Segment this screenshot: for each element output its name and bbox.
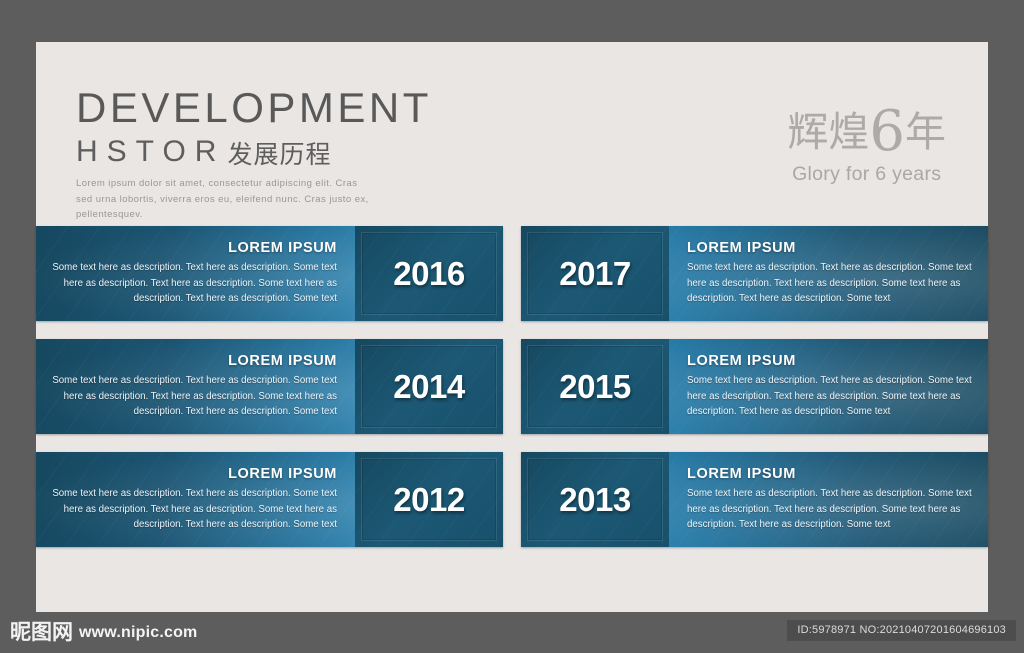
panel-text-block: LOREM IPSUM Some text here as descriptio… — [669, 226, 988, 321]
year-label: 2012 — [393, 481, 464, 519]
timeline-panel-2014[interactable]: LOREM IPSUM Some text here as descriptio… — [36, 339, 503, 434]
panel-text-block: LOREM IPSUM Some text here as descriptio… — [669, 339, 988, 434]
glory-block: 辉煌6年 Glory for 6 years — [787, 104, 946, 185]
year-box[interactable]: 2012 — [355, 452, 503, 547]
year-label: 2013 — [559, 481, 630, 519]
panel-title: LOREM IPSUM — [52, 353, 337, 369]
glory-number: 6 — [869, 99, 905, 164]
timeline-row: LOREM IPSUM Some text here as descriptio… — [36, 339, 988, 434]
headline-chinese-subtitle: 发展历程 — [227, 142, 331, 167]
glory-suffix: 年 — [905, 108, 946, 156]
panel-content: 2013 LOREM IPSUM Some text here as descr… — [521, 452, 988, 547]
year-box[interactable]: 2013 — [521, 452, 669, 547]
timeline-panel-2012[interactable]: LOREM IPSUM Some text here as descriptio… — [36, 452, 503, 547]
panel-description: Some text here as description. Text here… — [687, 373, 972, 420]
panel-content: LOREM IPSUM Some text here as descriptio… — [36, 452, 503, 547]
headline-block: DEVELOPMENT HSTOR 发展历程 Lorem ipsum dolor… — [76, 87, 432, 223]
headline-lorem-paragraph: Lorem ipsum dolor sit amet, consectetur … — [76, 176, 371, 223]
timeline-row: LOREM IPSUM Some text here as descriptio… — [36, 226, 988, 321]
year-box[interactable]: 2017 — [521, 226, 669, 321]
panel-text-block: LOREM IPSUM Some text here as descriptio… — [36, 452, 355, 547]
panel-title: LOREM IPSUM — [687, 466, 972, 482]
id-badge: ID:5978971 NO:20210407201604696103 — [787, 620, 1016, 641]
year-box[interactable]: 2015 — [521, 339, 669, 434]
glory-chinese-title: 辉煌6年 — [787, 104, 946, 160]
nipic-url[interactable]: www.nipic.com — [79, 624, 197, 642]
panel-content: 2015 LOREM IPSUM Some text here as descr… — [521, 339, 988, 434]
panel-description: Some text here as description. Text here… — [687, 260, 972, 307]
year-label: 2017 — [559, 255, 630, 293]
panel-text-block: LOREM IPSUM Some text here as descriptio… — [36, 226, 355, 321]
poster-card: DEVELOPMENT HSTOR 发展历程 Lorem ipsum dolor… — [36, 42, 988, 612]
panel-content: LOREM IPSUM Some text here as descriptio… — [36, 339, 503, 434]
poster-header: DEVELOPMENT HSTOR 发展历程 Lorem ipsum dolor… — [36, 42, 988, 212]
panel-title: LOREM IPSUM — [52, 466, 337, 482]
panel-description: Some text here as description. Text here… — [52, 260, 337, 307]
panel-description: Some text here as description. Text here… — [52, 486, 337, 533]
year-box[interactable]: 2016 — [355, 226, 503, 321]
year-label: 2016 — [393, 255, 464, 293]
year-box[interactable]: 2014 — [355, 339, 503, 434]
headline-main: DEVELOPMENT — [76, 87, 432, 129]
headline-sub: HSTOR — [76, 137, 225, 167]
panel-text-block: LOREM IPSUM Some text here as descriptio… — [669, 452, 988, 547]
timeline-grid: LOREM IPSUM Some text here as descriptio… — [36, 226, 988, 565]
year-label: 2014 — [393, 368, 464, 406]
panel-content: 2017 LOREM IPSUM Some text here as descr… — [521, 226, 988, 321]
panel-title: LOREM IPSUM — [687, 240, 972, 256]
panel-description: Some text here as description. Text here… — [687, 486, 972, 533]
timeline-row: LOREM IPSUM Some text here as descriptio… — [36, 452, 988, 547]
nipic-logo: 昵图网 — [10, 622, 73, 643]
timeline-panel-2016[interactable]: LOREM IPSUM Some text here as descriptio… — [36, 226, 503, 321]
headline-sub-row: HSTOR 发展历程 — [76, 137, 432, 167]
timeline-panel-2013[interactable]: 2013 LOREM IPSUM Some text here as descr… — [521, 452, 988, 547]
panel-title: LOREM IPSUM — [52, 240, 337, 256]
watermark-footer-bar: 昵图网 www.nipic.com ID:5978971 NO:20210407… — [0, 612, 1024, 653]
panel-title: LOREM IPSUM — [687, 353, 972, 369]
timeline-panel-2017[interactable]: 2017 LOREM IPSUM Some text here as descr… — [521, 226, 988, 321]
timeline-panel-2015[interactable]: 2015 LOREM IPSUM Some text here as descr… — [521, 339, 988, 434]
year-label: 2015 — [559, 368, 630, 406]
panel-description: Some text here as description. Text here… — [52, 373, 337, 420]
glory-prefix: 辉煌 — [787, 108, 869, 156]
panel-text-block: LOREM IPSUM Some text here as descriptio… — [36, 339, 355, 434]
glory-english-subtitle: Glory for 6 years — [787, 165, 946, 185]
panel-content: LOREM IPSUM Some text here as descriptio… — [36, 226, 503, 321]
